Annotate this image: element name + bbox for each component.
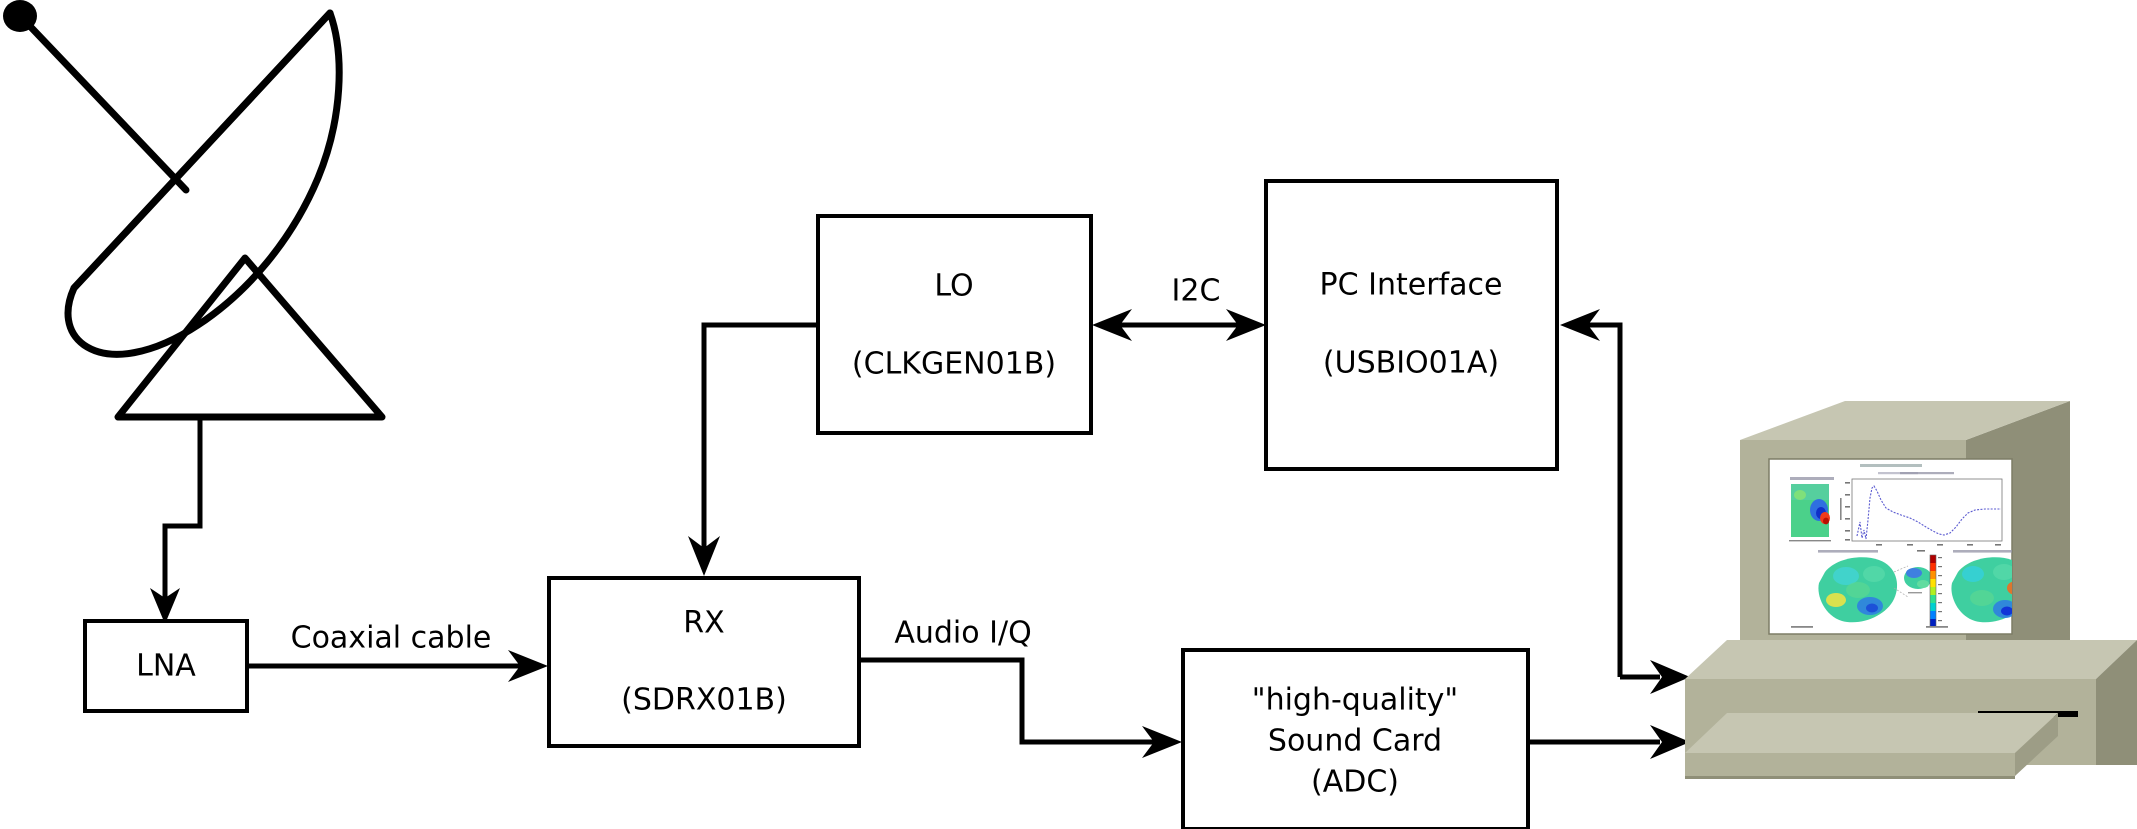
keyboard-top (1685, 713, 2058, 753)
lo-label-line1: LO (934, 269, 973, 304)
desktop-computer-icon (1685, 401, 2137, 779)
block-rx[interactable]: RX (SDRX01B) (549, 578, 859, 746)
pc-interface-label-line2: (USBIO01A) (1323, 346, 1499, 381)
dish-rim-chord (74, 13, 330, 288)
pc-interface-label-line1: PC Interface (1320, 268, 1503, 303)
soundcard-label-line1: "high-quality" (1252, 683, 1458, 718)
rx-label-line1: RX (683, 606, 724, 641)
edge-label-i2c: I2C (1172, 274, 1221, 309)
wire-lna-to-rx: Coaxial cable (247, 621, 548, 683)
soundcard-label-line3: (ADC) (1311, 765, 1399, 800)
rx-label-line2: (SDRX01B) (621, 683, 787, 718)
rx-box[interactable] (549, 578, 859, 746)
edge-label-audio-iq: Audio I/Q (894, 616, 1031, 651)
wire-lo-to-rx (688, 325, 818, 576)
satellite-dish-icon (3, 0, 382, 417)
wire-rx-to-soundcard: Audio I/Q (859, 616, 1182, 759)
lo-label-line2: (CLKGEN01B) (852, 347, 1056, 382)
plot-colormap-image (1789, 484, 1831, 541)
block-soundcard[interactable]: "high-quality" Sound Card (ADC) (1183, 650, 1528, 829)
lo-box[interactable] (818, 216, 1091, 433)
edge-label-coaxial-cable: Coaxial cable (291, 621, 492, 656)
block-diagram: LNA Coaxial cable RX (SDRX01B) LO (CLKGE… (0, 0, 2137, 829)
pc-interface-box[interactable] (1266, 181, 1557, 469)
diagram-canvas: LNA Coaxial cable RX (SDRX01B) LO (CLKGE… (0, 0, 2137, 829)
wire-soundcard-to-computer (1528, 725, 1690, 759)
wire-i2c: I2C (1092, 274, 1266, 342)
wire-antenna-to-lna (150, 419, 200, 624)
plot-tl-title (1790, 477, 1834, 480)
keyboard-front (1685, 753, 2015, 776)
keyboard-edge (1685, 776, 2015, 779)
computer-case-top (1685, 640, 2137, 679)
block-pc-interface[interactable]: PC Interface (USBIO01A) (1266, 181, 1557, 469)
dish-feed-strut (26, 22, 186, 190)
soundcard-label-line2: Sound Card (1268, 724, 1442, 759)
wire-computer-to-pc-interface (1560, 309, 1690, 694)
plot-figure-title (1860, 464, 1922, 467)
block-lna[interactable]: LNA (85, 621, 247, 711)
lna-label: LNA (136, 649, 196, 684)
dish-reflector-outline (68, 13, 339, 354)
block-lo[interactable]: LO (CLKGEN01B) (818, 216, 1091, 433)
